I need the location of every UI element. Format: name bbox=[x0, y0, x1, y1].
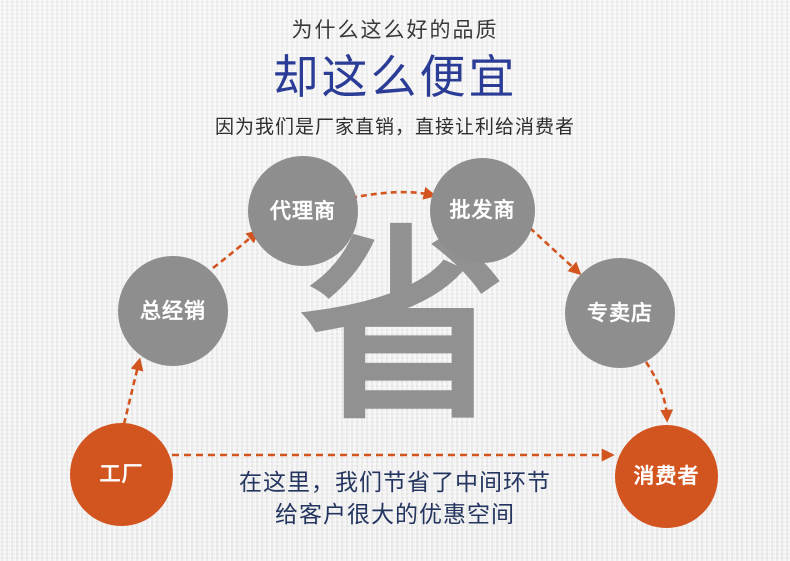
node-agent-label: 代理商 bbox=[270, 201, 336, 222]
node-retailer-label: 专卖店 bbox=[587, 303, 653, 324]
arrow-retailer-to-consumer bbox=[646, 362, 667, 418]
node-consumer[interactable]: 消费者 bbox=[615, 425, 718, 528]
node-wholesaler-label: 批发商 bbox=[450, 200, 516, 221]
node-factory-label: 工厂 bbox=[100, 464, 144, 485]
caption-line-1: 在这里，我们节省了中间环节 bbox=[180, 466, 610, 498]
caption-line-2: 给客户很大的优惠空间 bbox=[180, 498, 610, 530]
node-distributor[interactable]: 总经销 bbox=[118, 256, 228, 366]
node-distributor-label: 总经销 bbox=[140, 301, 206, 322]
node-agent[interactable]: 代理商 bbox=[248, 156, 358, 266]
bottom-caption: 在这里，我们节省了中间环节 给客户很大的优惠空间 bbox=[180, 466, 610, 530]
arrow-agent-to-wholesaler bbox=[351, 192, 432, 198]
node-consumer-label: 消费者 bbox=[634, 466, 700, 487]
node-factory[interactable]: 工厂 bbox=[70, 423, 173, 526]
arrow-factory-to-distributor bbox=[124, 362, 139, 424]
arrow-wholesaler-to-retailer bbox=[530, 228, 578, 272]
arrow-distributor-to-agent bbox=[213, 233, 256, 268]
node-wholesaler[interactable]: 批发商 bbox=[430, 158, 535, 263]
node-retailer[interactable]: 专卖店 bbox=[565, 258, 675, 368]
infographic-canvas: 为什么这么好的品质 却这么便宜 因为我们是厂家直销，直接让利给消费者 省 工厂 … bbox=[0, 0, 790, 561]
